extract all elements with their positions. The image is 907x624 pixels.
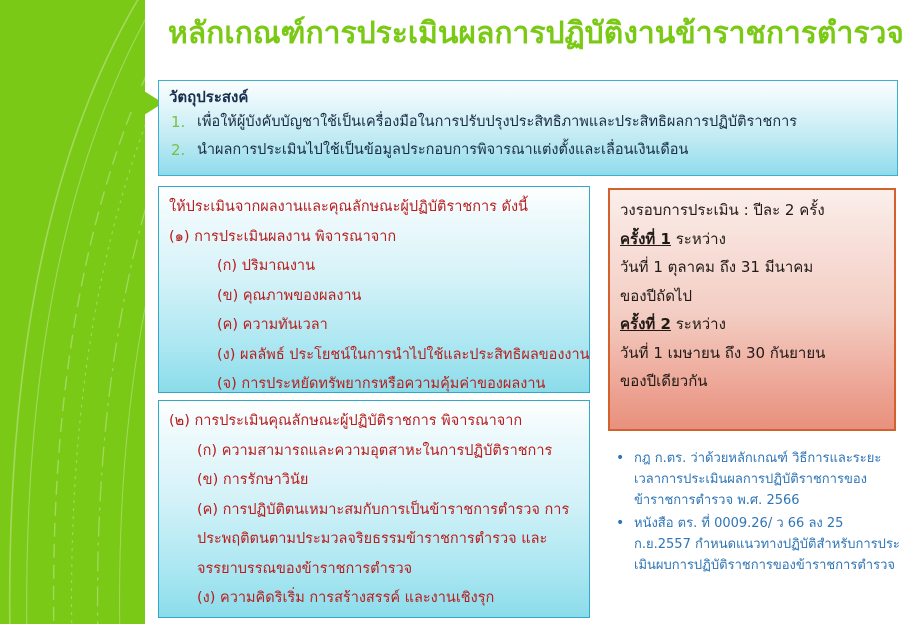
criteria-box-attributes-content: (๒) การประเมินคุณลักษณะผู้ปฏิบัติราชการ … bbox=[159, 401, 589, 614]
cycle-line: ครั้งที่ 2 ระหว่าง bbox=[620, 310, 886, 339]
criteria-line: (ค) การปฏิบัติตนเหมาะสมกับการเป็นข้าราชก… bbox=[169, 496, 579, 585]
slide-root: หลักเกณฑ์การประเมินผลการปฏิบัติงานข้าราช… bbox=[0, 0, 907, 624]
cycle-line: วงรอบการประเมิน : ปีละ 2 ครั้ง bbox=[620, 196, 886, 225]
cycle-line-text: วงรอบการประเมิน : ปีละ 2 ครั้ง bbox=[620, 201, 825, 219]
objectives-heading: วัตถุประสงค์ bbox=[169, 85, 248, 109]
criteria-line: ให้ประเมินจากผลงานและคุณลักษณะผู้ปฏิบัติ… bbox=[169, 193, 579, 223]
cycle-line-text: วันที่ 1 ตุลาคม ถึง 31 มีนาคม bbox=[620, 258, 813, 276]
criteria-line: (ค) ความทันเวลา bbox=[169, 311, 579, 341]
list-item: • หนังสือ ตร. ที่ 0009.26/ ว 66 ลง 25 ก.… bbox=[612, 513, 902, 576]
criteria-line: (ก) ปริมาณงาน bbox=[169, 252, 579, 282]
objective-number: 2. bbox=[167, 137, 197, 163]
list-item: 2. นำผลการประเมินไปใช้เป็นข้อมูลประกอบกา… bbox=[167, 137, 891, 163]
criteria-line: (ก) ความสามารถและความอุตสาหะในการปฏิบัติ… bbox=[169, 437, 579, 467]
bullet-icon: • bbox=[612, 448, 634, 469]
criteria-line: (จ) การประหยัดทรัพยากรหรือความคุ้มค่าของ… bbox=[169, 370, 579, 400]
cycle-line: วันที่ 1 เมษายน ถึง 30 กันยายน bbox=[620, 339, 886, 368]
objective-text: เพื่อให้ผู้บังคับบัญชาใช้เป็นเครื่องมือใ… bbox=[197, 109, 797, 135]
criteria-box-performance-content: ให้ประเมินจากผลงานและคุณลักษณะผู้ปฏิบัติ… bbox=[159, 187, 589, 400]
reference-text: กฎ ก.ตร. ว่าด้วยหลักเกณฑ์ วิธีการและระยะ… bbox=[634, 448, 902, 511]
cycle-line-text: ระหว่าง bbox=[671, 230, 726, 248]
cycle-line-text: ของปีเดียวกัน bbox=[620, 372, 708, 390]
criteria-line: (ข) คุณภาพของผลงาน bbox=[169, 282, 579, 312]
left-green-panel bbox=[0, 0, 145, 624]
objectives-box: วัตถุประสงค์ 1. เพื่อให้ผู้บังคับบัญชาใช… bbox=[158, 80, 898, 176]
page-title: หลักเกณฑ์การประเมินผลการปฏิบัติงานข้าราช… bbox=[168, 8, 898, 66]
objectives-list: 1. เพื่อให้ผู้บังคับบัญชาใช้เป็นเครื่องม… bbox=[167, 109, 891, 165]
objective-text: นำผลการประเมินไปใช้เป็นข้อมูลประกอบการพิ… bbox=[197, 137, 688, 163]
list-item: • กฎ ก.ตร. ว่าด้วยหลักเกณฑ์ วิธีการและระ… bbox=[612, 448, 902, 511]
cycle-line-text: ของปีถัดไป bbox=[620, 287, 692, 305]
cycle-line: ของปีเดียวกัน bbox=[620, 367, 886, 396]
cycle-line-text: วันที่ 1 เมษายน ถึง 30 กันยายน bbox=[620, 344, 825, 362]
cycle-line-text: ระหว่าง bbox=[671, 315, 726, 333]
decorative-arcs-icon bbox=[0, 0, 145, 624]
list-item: 1. เพื่อให้ผู้บังคับบัญชาใช้เป็นเครื่องม… bbox=[167, 109, 891, 135]
criteria-box-performance: ให้ประเมินจากผลงานและคุณลักษณะผู้ปฏิบัติ… bbox=[158, 186, 590, 393]
cycle-line: วันที่ 1 ตุลาคม ถึง 31 มีนาคม bbox=[620, 253, 886, 282]
criteria-line: (ง) ผลลัพธ์ ประโยชน์ในการนำไปใช้และประสิ… bbox=[169, 341, 579, 371]
bullet-icon: • bbox=[612, 513, 634, 534]
cycle-round-label: ครั้งที่ 1 bbox=[620, 230, 671, 248]
reference-text: หนังสือ ตร. ที่ 0009.26/ ว 66 ลง 25 ก.ย.… bbox=[634, 513, 902, 576]
criteria-line: (ข) การรักษาวินัย bbox=[169, 466, 579, 496]
criteria-line: (๑) การประเมินผลงาน พิจารณาจาก bbox=[169, 223, 579, 253]
criteria-box-attributes: (๒) การประเมินคุณลักษณะผู้ปฏิบัติราชการ … bbox=[158, 400, 590, 618]
reference-list: • กฎ ก.ตร. ว่าด้วยหลักเกณฑ์ วิธีการและระ… bbox=[612, 448, 902, 578]
criteria-line: (ง) ความคิดริเริ่ม การสร้างสรรค์ และงานเ… bbox=[169, 584, 579, 614]
cycle-line: ของปีถัดไป bbox=[620, 282, 886, 311]
cycle-line: ครั้งที่ 1 ระหว่าง bbox=[620, 225, 886, 254]
cycle-round-label: ครั้งที่ 2 bbox=[620, 315, 671, 333]
evaluation-cycle-box: วงรอบการประเมิน : ปีละ 2 ครั้ง ครั้งที่ … bbox=[608, 188, 896, 431]
objective-number: 1. bbox=[167, 109, 197, 135]
criteria-line: (๒) การประเมินคุณลักษณะผู้ปฏิบัติราชการ … bbox=[169, 407, 579, 437]
